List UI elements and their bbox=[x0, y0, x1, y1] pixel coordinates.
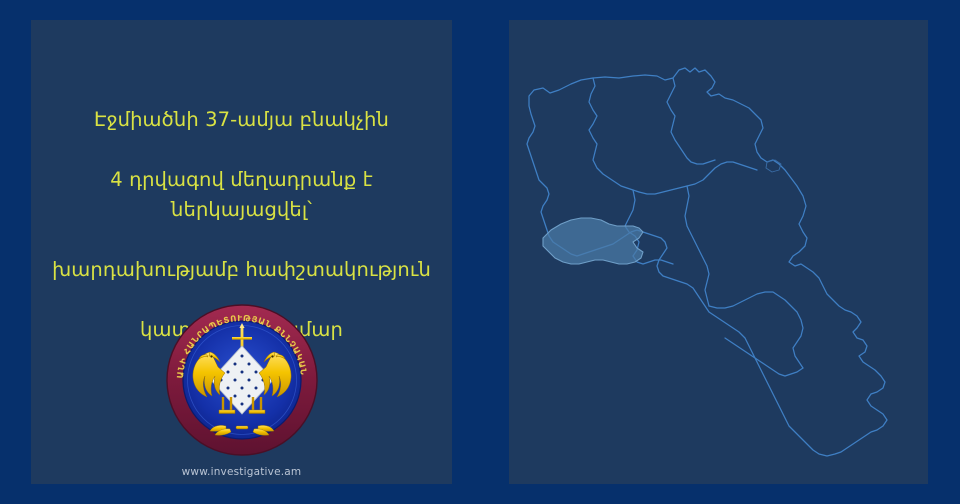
map-enclave bbox=[766, 160, 781, 172]
map-border-northern-belt bbox=[639, 162, 757, 194]
website-url[interactable]: www.investigative.am bbox=[31, 466, 452, 478]
armenia-map bbox=[509, 20, 928, 484]
map-region-armavir-highlight bbox=[543, 218, 643, 264]
headline-line-1: Էջմիածնի 37-ամյա բնակչին bbox=[37, 105, 446, 135]
emblem: ՀԱՅԱՍՏԱՆԻ ՀԱՆՐԱՊԵՏՈՒԹՅԱՆ ՔՆՆՉԱԿԱՆ ԿՈՄԻՏԵ bbox=[166, 304, 318, 456]
right-panel bbox=[509, 20, 928, 484]
headline-line-2: 4 դրվագով մեղադրանք է ներկայացվել՝ bbox=[37, 165, 446, 225]
map-border-ararat-vayotsdzor bbox=[709, 292, 803, 368]
map-border-kotayk-gegharkunik bbox=[685, 186, 709, 306]
left-panel: Էջմիածնի 37-ամյա բնակչին 4 դրվագով մեղադ… bbox=[31, 20, 452, 484]
map-border-shirak-lori bbox=[589, 78, 639, 192]
emblem-icon: ՀԱՅԱՍՏԱՆԻ ՀԱՆՐԱՊԵՏՈՒԹՅԱՆ ՔՆՆՉԱԿԱՆ ԿՈՄԻՏԵ bbox=[166, 304, 318, 456]
map-border-vayotsdzor-syunik bbox=[725, 338, 803, 376]
poster-canvas: Էջմիածնի 37-ամյա բնակչին 4 դրվագով մեղադ… bbox=[0, 0, 960, 504]
headline-line-3: խարդախությամբ հափշտակություն bbox=[37, 255, 446, 285]
